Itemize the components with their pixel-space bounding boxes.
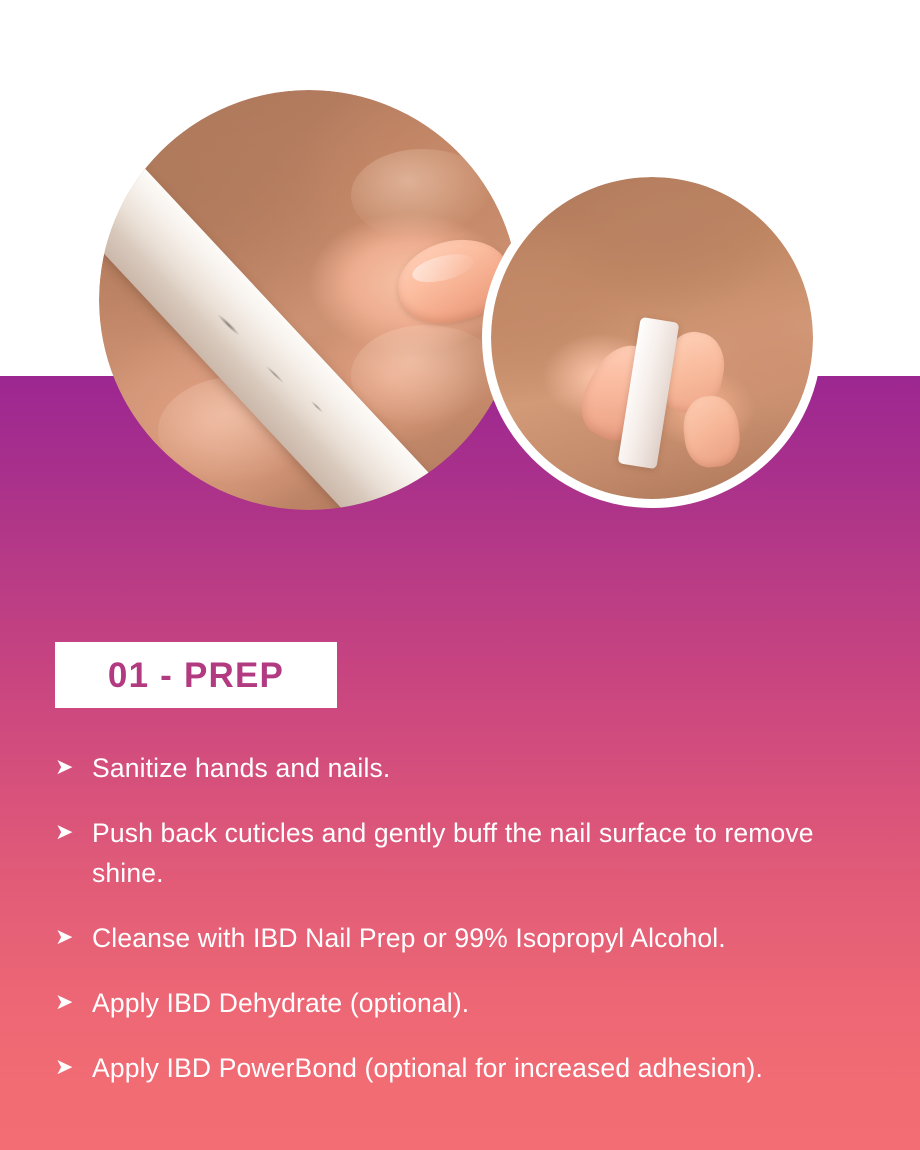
arrow-bullet-icon: ➤: [55, 1048, 92, 1088]
arrow-bullet-icon: ➤: [55, 983, 92, 1023]
list-item-text: Cleanse with IBD Nail Prep or 99% Isopro…: [92, 918, 885, 958]
prep-step-card: 01 - PREP ➤ Sanitize hands and nails. ➤ …: [0, 0, 920, 1150]
filing-nail-photo-image: [99, 90, 519, 510]
buffing-nail-photo: [482, 168, 822, 508]
arrow-bullet-icon: ➤: [55, 748, 92, 788]
instruction-list: ➤ Sanitize hands and nails. ➤ Push back …: [55, 748, 885, 1088]
step-badge: 01 - PREP: [55, 642, 337, 708]
step-badge-label: 01 - PREP: [108, 658, 284, 693]
list-item: ➤ Push back cuticles and gently buff the…: [55, 813, 885, 893]
arrow-bullet-icon: ➤: [55, 918, 92, 958]
buffing-nail-photo-image: [491, 177, 813, 499]
list-item-text: Apply IBD Dehydrate (optional).: [92, 983, 885, 1023]
photo-collage: [0, 0, 920, 540]
list-item-text: Apply IBD PowerBond (optional for increa…: [92, 1048, 885, 1088]
list-item: ➤ Cleanse with IBD Nail Prep or 99% Isop…: [55, 918, 885, 958]
list-item: ➤ Apply IBD PowerBond (optional for incr…: [55, 1048, 885, 1088]
knuckle-highlight: [351, 325, 502, 426]
list-item-text: Sanitize hands and nails.: [92, 748, 885, 788]
knuckle-highlight: [351, 149, 494, 241]
arrow-bullet-icon: ➤: [55, 813, 92, 853]
filing-nail-photo: [99, 90, 519, 510]
list-item: ➤ Apply IBD Dehydrate (optional).: [55, 983, 885, 1023]
peach-nail: [681, 393, 743, 469]
list-item-text: Push back cuticles and gently buff the n…: [92, 813, 885, 893]
list-item: ➤ Sanitize hands and nails.: [55, 748, 885, 788]
